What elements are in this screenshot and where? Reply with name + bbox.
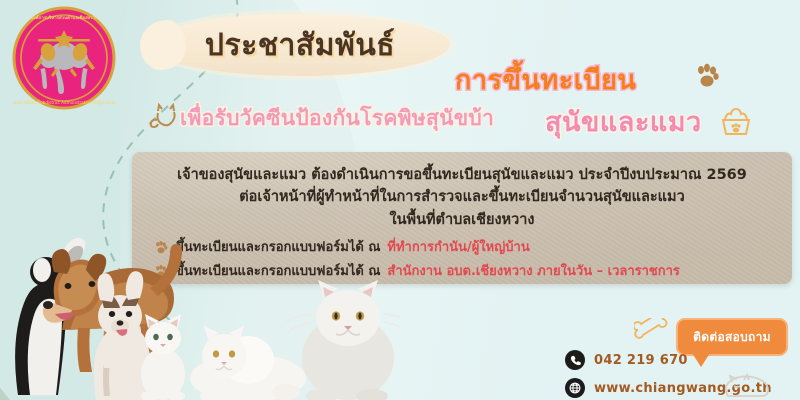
pets-photo-group xyxy=(0,210,400,400)
subtitle-vaccine: เพื่อรับวัคซีนป้องกันโรคพิษสุนัขบ้า xyxy=(180,102,494,135)
pet-bowl-icon xyxy=(717,106,755,138)
contact-phone-number: 042 219 670 xyxy=(594,353,688,368)
bullet-2-highlight: สำนักงาน อบต.เชียงหวาง ภายในวัน – เวลารา… xyxy=(387,260,680,281)
body-line-1: เจ้าของสุนัขและแมว ต้องดำเนินการขอขึ้นทะ… xyxy=(146,164,778,186)
body-line-2: ต่อเจ้าหน้าที่ผู้ทำหน้าที่ในการสำรวจและข… xyxy=(146,186,778,208)
globe-icon xyxy=(565,378,585,398)
bubble-tail xyxy=(692,353,710,367)
headline-dogs-and-cats: สุนัขและแมว xyxy=(545,100,702,143)
logo-text-english: Chiang Wang Subdistrict Administrative O… xyxy=(12,100,116,105)
poster-canvas: องค์การบริหารส่วนตำบลเชียงหวาง Chiang Wa… xyxy=(0,0,800,400)
bone-icon xyxy=(634,318,668,344)
cat-face-icon xyxy=(148,103,182,131)
cat-white-fluffy xyxy=(190,326,306,400)
bullet-1-highlight: ที่ทำการกำนัน/ผู้ใหญ่บ้าน xyxy=(387,236,529,257)
contact-bubble: ติดต่อสอบถาม xyxy=(676,318,788,356)
sleeping-cat-icon xyxy=(718,372,770,400)
logo-text-thai: องค์การบริหารส่วนตำบลเชียงหวาง xyxy=(31,14,97,21)
headline-registration: การขึ้นทะเบียน xyxy=(455,58,636,101)
contact-bubble-label: ติดต่อสอบถาม xyxy=(678,320,786,354)
organization-logo: องค์การบริหารส่วนตำบลเชียงหวาง Chiang Wa… xyxy=(12,6,116,110)
contact-phone-row[interactable]: 042 219 670 xyxy=(565,350,688,370)
title-banner: ประชาสัมพันธ์ xyxy=(150,14,450,76)
phone-icon xyxy=(565,350,585,370)
paw-print-icon xyxy=(694,62,720,88)
page-title: ประชาสัมพันธ์ xyxy=(150,14,450,76)
